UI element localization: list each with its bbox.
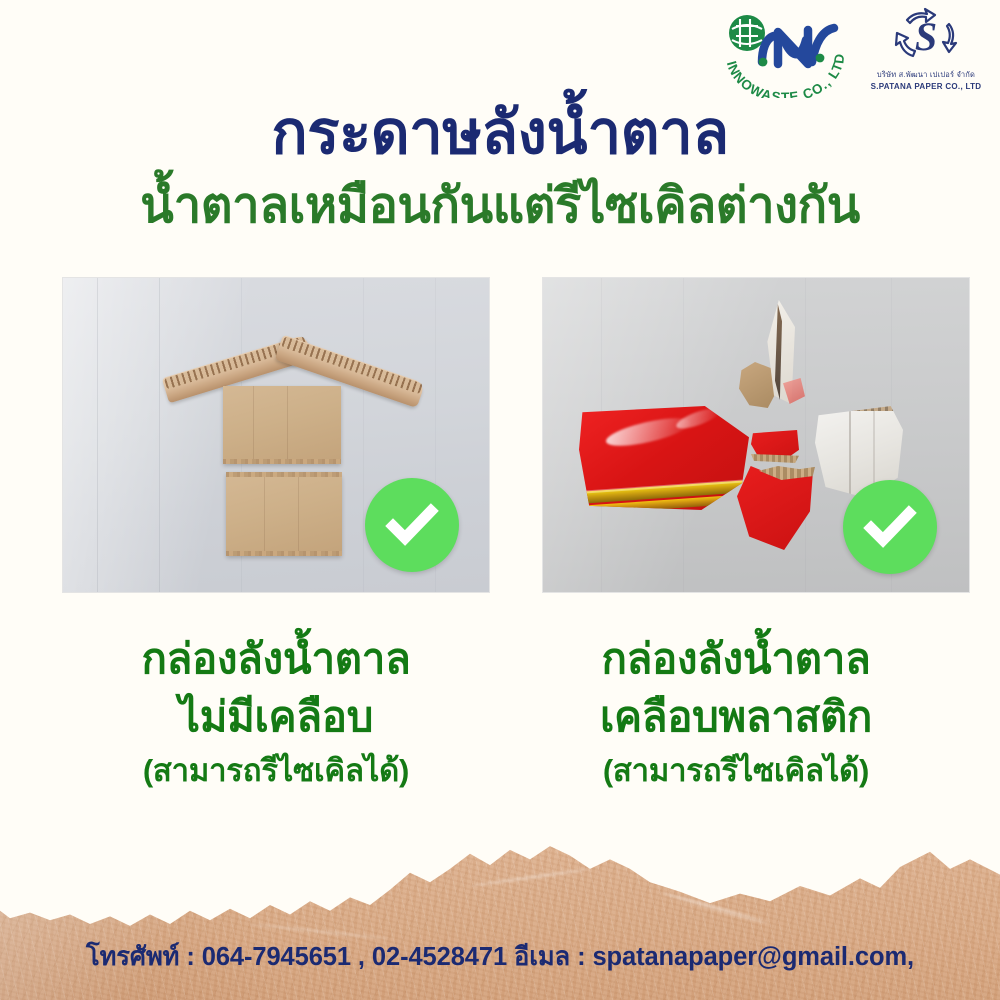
caption-line-3: (สามารถรีไซเคิลได้) bbox=[56, 748, 496, 795]
kraft-sheet-lower bbox=[226, 472, 342, 556]
photo-plastic-coated-cardboard bbox=[542, 277, 970, 593]
caption-line-1: กล่องลังน้ำตาล bbox=[56, 630, 496, 688]
spatana-company-name: S.PATANA PAPER CO., LTD bbox=[871, 82, 982, 91]
svg-text:S: S bbox=[915, 14, 937, 59]
innowaste-logo: INNOWASTE CO., LTD. bbox=[716, 6, 856, 98]
caption-line-1: กล่องลังน้ำตาล bbox=[516, 630, 956, 688]
photo-uncoated-cardboard bbox=[62, 277, 490, 593]
red-laminated-chip-torn bbox=[737, 466, 813, 550]
spatana-paper-logo: S บริษัท ส.พัฒนา เปเปอร์ จำกัด S.PATANA … bbox=[870, 6, 982, 102]
page-subtitle: น้ำตาลเหมือนกันแต่รีไซเคิลต่างกัน bbox=[0, 182, 1000, 231]
logo-strip: INNOWASTE CO., LTD. S บริษัท ส.พัฒนา เปเ… bbox=[716, 6, 982, 102]
check-icon bbox=[860, 497, 920, 557]
red-laminated-piece-large bbox=[579, 406, 749, 510]
caption-plastic-coated: กล่องลังน้ำตาล เคลือบพลาสติก (สามารถรีไซ… bbox=[516, 630, 956, 794]
caption-line-2: ไม่มีเคลือบ bbox=[56, 688, 496, 746]
kraft-tear-edge-small bbox=[751, 454, 799, 463]
torn-kraft-white-piece bbox=[739, 300, 805, 412]
page-title: กระดาษลังน้ำตาล bbox=[0, 103, 1000, 163]
globe-recycle-icon: INNOWASTE CO., LTD. bbox=[716, 6, 856, 98]
badge-recyclable-uncoated bbox=[365, 478, 459, 572]
contact-footer: โทรศัพท์ : 064-7945651 , 02-4528471 อีเม… bbox=[0, 937, 1000, 977]
caption-line-3: (สามารถรีไซเคิลได้) bbox=[516, 748, 956, 795]
kraft-sheet-upper bbox=[223, 386, 341, 464]
caption-uncoated: กล่องลังน้ำตาล ไม่มีเคลือบ (สามารถรีไซเค… bbox=[56, 630, 496, 794]
badge-recyclable-coated bbox=[843, 480, 937, 574]
spatana-thai-name: บริษัท ส.พัฒนา เปเปอร์ จำกัด bbox=[877, 69, 975, 81]
check-icon bbox=[382, 495, 442, 555]
caption-line-2: เคลือบพลาสติก bbox=[516, 688, 956, 746]
poster-canvas: INNOWASTE CO., LTD. S บริษัท ส.พัฒนา เปเ… bbox=[0, 0, 1000, 1000]
recycle-arrows-s-icon: S bbox=[887, 6, 965, 68]
